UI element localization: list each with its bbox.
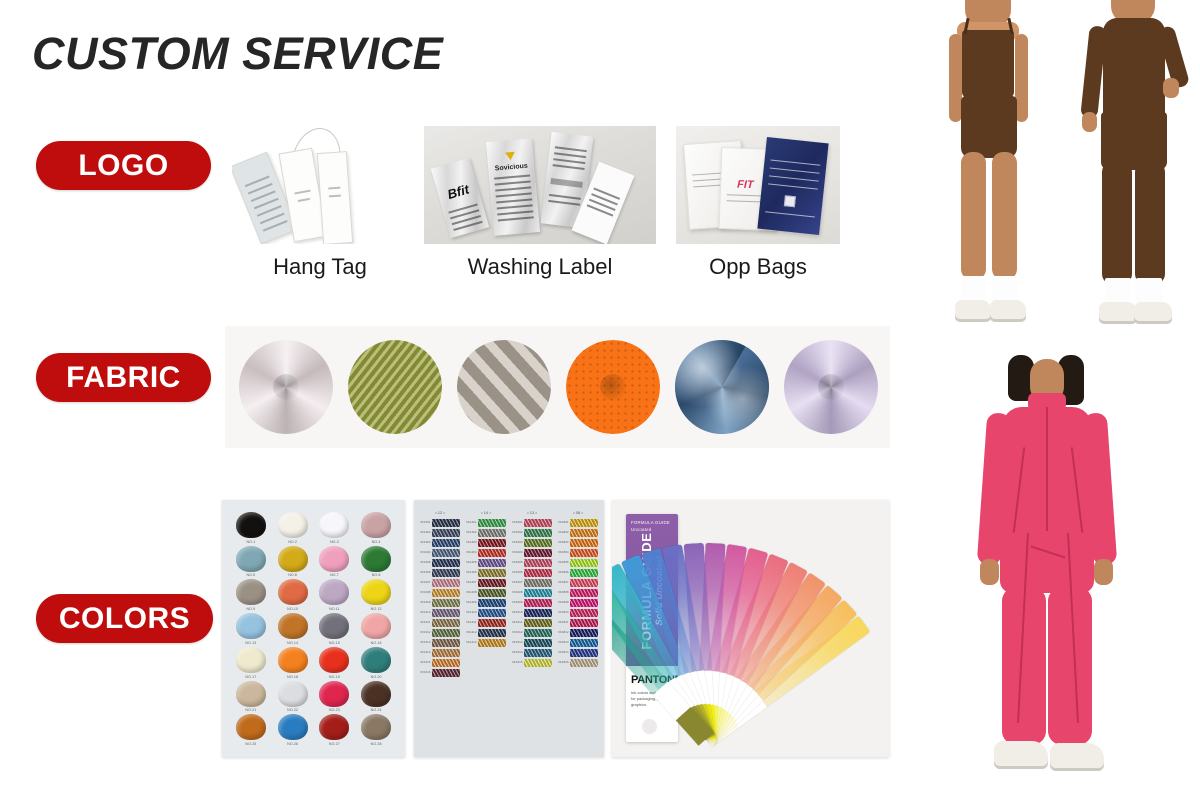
- color-chip-label: NO.23: [329, 708, 340, 712]
- color-chip-label: NO.26: [287, 742, 298, 746]
- thread-yarn-row: VF1412: [466, 628, 506, 637]
- thread-yarn-sample: [432, 539, 460, 547]
- thread-strip-header: • 12 •: [420, 510, 460, 515]
- thread-yarn-sample: [524, 539, 552, 547]
- color-chip: [278, 714, 308, 740]
- color-chip-label: NO.17: [245, 675, 256, 679]
- section-badge-colors: COLORS: [36, 594, 213, 643]
- color-chip-cell: NO.16: [357, 613, 395, 644]
- thread-yarn-sample: [570, 599, 598, 607]
- thread-yarn-sample: [432, 649, 460, 657]
- thread-yarn-sample: [524, 569, 552, 577]
- thread-strip: • 13 •VF1601VF1602VF1603VF1604VF1605VF16…: [512, 510, 552, 667]
- thread-yarn-code: VF1413: [466, 641, 477, 644]
- thread-yarn-code: VF1412: [466, 631, 477, 634]
- color-chip-label: NO.28: [371, 742, 382, 746]
- color-chip: [236, 681, 266, 707]
- thread-yarn-sample: [524, 579, 552, 587]
- thread-yarn-code: VF1811: [558, 621, 569, 624]
- custom-service-poster: CUSTOM SERVICE LOGO: [0, 0, 1200, 800]
- thread-yarn-row: VF1806: [558, 568, 598, 577]
- thread-yarn-code: VF1312: [420, 631, 431, 634]
- color-chip-cell: NO.6: [274, 546, 312, 577]
- thread-yarn-row: VF1401: [466, 518, 506, 527]
- thread-yarn-sample: [570, 539, 598, 547]
- thread-yarn-sample: [570, 569, 598, 577]
- color-chip-label: NO.10: [287, 607, 298, 611]
- fabric-swatch-taupe-ribbed: [457, 340, 551, 434]
- thread-yarn-row: VF1407: [466, 578, 506, 587]
- color-chip: [278, 579, 308, 605]
- thread-strip: • 12 •VF1301VF1302VF1303VF1304VF1305VF13…: [420, 510, 460, 677]
- thread-yarn-sample: [432, 579, 460, 587]
- thread-yarn-row: VF1402: [466, 528, 506, 537]
- thread-yarn-sample: [432, 569, 460, 577]
- thread-yarn-sample: [432, 609, 460, 617]
- thread-yarn-sample: [524, 659, 552, 667]
- thread-yarn-sample: [524, 529, 552, 537]
- logo-item-opp-bags: FIT Opp Bags: [676, 126, 840, 244]
- washing-label-bfit: Bfit: [431, 158, 489, 238]
- thread-yarn-sample: [478, 639, 506, 647]
- thread-yarn-row: VF1301: [420, 518, 460, 527]
- thread-yarn-row: VF1807: [558, 578, 598, 587]
- color-chip-cell: NO.5: [232, 546, 270, 577]
- section-badge-fabric: FABRIC: [36, 353, 211, 402]
- thread-yarn-sample: [570, 589, 598, 597]
- thread-color-card: • 12 •VF1301VF1302VF1303VF1304VF1305VF13…: [414, 500, 604, 757]
- thread-yarn-code: VF1604: [512, 551, 523, 554]
- thread-yarn-sample: [478, 519, 506, 527]
- thread-yarn-code: VF1611: [512, 621, 523, 624]
- color-chip: [236, 546, 266, 572]
- thread-yarn-sample: [478, 609, 506, 617]
- color-chip-label: NO.3: [330, 540, 339, 544]
- color-chip-cell: NO.12: [357, 579, 395, 610]
- thread-yarn-sample: [432, 519, 460, 527]
- thread-yarn-code: VF1612: [512, 631, 523, 634]
- color-chip: [361, 512, 391, 538]
- color-chip-cell: NO.15: [316, 613, 354, 644]
- washing-label-sovicious: Sovicious: [486, 138, 540, 236]
- thread-yarn-row: VF1304: [420, 548, 460, 557]
- thread-yarn-sample: [478, 549, 506, 557]
- thread-yarn-row: VF1607: [512, 578, 552, 587]
- thread-yarn-sample: [570, 519, 598, 527]
- color-chip-cell: NO.26: [274, 714, 312, 745]
- color-chip: [361, 613, 391, 639]
- thread-yarn-sample: [478, 589, 506, 597]
- thread-yarn-code: VF1607: [512, 581, 523, 584]
- color-chip: [278, 681, 308, 707]
- color-chip-cell: NO.22: [274, 681, 312, 712]
- color-chip: [361, 579, 391, 605]
- color-chip: [361, 647, 391, 673]
- thread-yarn-sample: [570, 629, 598, 637]
- thread-yarn-row: VF1610: [512, 608, 552, 617]
- thread-yarn-sample: [478, 629, 506, 637]
- thread-yarn-sample: [570, 529, 598, 537]
- color-chip-cell: NO.10: [274, 579, 312, 610]
- thread-yarn-code: VF1802: [558, 531, 569, 534]
- washing-label-photo: Bfit Sovicious: [424, 126, 656, 244]
- thread-yarn-row: VF1804: [558, 548, 598, 557]
- color-chip-label: NO.5: [246, 573, 255, 577]
- thread-yarn-sample: [570, 549, 598, 557]
- color-chip: [278, 512, 308, 538]
- thread-yarn-sample: [478, 599, 506, 607]
- thread-yarn-sample: [524, 609, 552, 617]
- color-chip-label: NO.19: [329, 675, 340, 679]
- color-chip: [236, 647, 266, 673]
- thread-yarn-code: VF1801: [558, 521, 569, 524]
- thread-yarn-sample: [478, 539, 506, 547]
- section-badge-logo: LOGO: [36, 141, 211, 190]
- color-chip: [319, 613, 349, 639]
- thread-yarn-sample: [524, 559, 552, 567]
- thread-yarn-row: VF1809: [558, 598, 598, 607]
- logo-item-hang-tag: Hang Tag: [232, 126, 408, 244]
- thread-strip-header: • 14 •: [466, 510, 506, 515]
- thread-yarn-sample: [570, 649, 598, 657]
- thread-yarn-code: VF1813: [558, 641, 569, 644]
- thread-yarn-code: VF1812: [558, 631, 569, 634]
- thread-yarn-row: VF1805: [558, 558, 598, 567]
- pantone-cover-top-text: FORMULA GUIDE Uncoated: [631, 520, 670, 533]
- thread-yarn-code: VF1313: [420, 641, 431, 644]
- thread-yarn-row: VF1302: [420, 528, 460, 537]
- thread-yarn-row: VF1314: [420, 648, 460, 657]
- thread-yarn-row: VF1813: [558, 638, 598, 647]
- thread-yarn-code: VF1314: [420, 651, 431, 654]
- thread-yarn-code: VF1409: [466, 601, 477, 604]
- color-chip-cell: NO.11: [316, 579, 354, 610]
- thread-yarn-row: VF1611: [512, 618, 552, 627]
- thread-yarn-code: VF1315: [420, 661, 431, 664]
- opp-bags-photo: FIT: [676, 126, 840, 244]
- thread-yarn-code: VF1401: [466, 521, 477, 524]
- thread-yarn-code: VF1806: [558, 571, 569, 574]
- pantone-fan-deck-card: FORMULA GUIDE Uncoated FORMULA GUIDE Sol…: [612, 500, 889, 757]
- color-chip-cell: NO.8: [357, 546, 395, 577]
- thread-yarn-sample: [570, 619, 598, 627]
- thread-yarn-row: VF1811: [558, 618, 598, 627]
- color-chip-label: NO.18: [287, 675, 298, 679]
- thread-yarn-row: VF1409: [466, 598, 506, 607]
- thread-yarn-row: VF1305: [420, 558, 460, 567]
- color-chip-label: NO.16: [371, 641, 382, 645]
- fabric-swatch-blue-tie-dye: [675, 340, 769, 434]
- thread-yarn-code: VF1408: [466, 591, 477, 594]
- color-chip: [319, 579, 349, 605]
- fabric-swatch-olive-ribbed-knit: [348, 340, 442, 434]
- thread-yarn-row: VF1810: [558, 608, 598, 617]
- thread-yarn-sample: [524, 629, 552, 637]
- thread-yarn-row: VF1316: [420, 668, 460, 677]
- color-chip-cell: NO.13: [232, 613, 270, 644]
- thread-yarn-code: VF1316: [420, 671, 431, 674]
- thread-yarn-row: VF1408: [466, 588, 506, 597]
- thread-yarn-sample: [432, 549, 460, 557]
- color-chip-card: NO.1NO.2NO.3NO.4NO.5NO.6NO.7NO.8NO.9NO.1…: [222, 500, 405, 757]
- color-chip-label: NO.6: [288, 573, 297, 577]
- thread-yarn-row: VF1603: [512, 538, 552, 547]
- color-chip: [278, 613, 308, 639]
- hang-tag-photo: [232, 126, 408, 244]
- thread-yarn-row: VF1406: [466, 568, 506, 577]
- color-chip-label: NO.15: [329, 641, 340, 645]
- thread-yarn-sample: [570, 639, 598, 647]
- thread-yarn-code: VF1605: [512, 561, 523, 564]
- color-chip-cell: NO.17: [232, 647, 270, 678]
- color-chip-cell: NO.7: [316, 546, 354, 577]
- model-photo-brown-sets: [905, 0, 1200, 352]
- color-chip-cell: NO.4: [357, 512, 395, 543]
- color-chip-label: NO.25: [245, 742, 256, 746]
- hang-tag-caption: Hang Tag: [232, 254, 408, 280]
- thread-yarn-sample: [432, 559, 460, 567]
- color-chip-label: NO.24: [371, 708, 382, 712]
- color-chip-cell: NO.23: [316, 681, 354, 712]
- thread-yarn-row: VF1306: [420, 568, 460, 577]
- color-chip: [278, 647, 308, 673]
- thread-yarn-sample: [478, 529, 506, 537]
- thread-yarn-sample: [432, 529, 460, 537]
- color-chip-cell: NO.9: [232, 579, 270, 610]
- thread-yarn-row: VF1404: [466, 548, 506, 557]
- color-chip-label: NO.7: [330, 573, 339, 577]
- thread-yarn-row: VF1601: [512, 518, 552, 527]
- thread-yarn-row: VF1405: [466, 558, 506, 567]
- thread-strip-header: • 08 •: [558, 510, 598, 515]
- thread-yarn-code: VF1303: [420, 541, 431, 544]
- color-chip-cell: NO.20: [357, 647, 395, 678]
- fabric-swatch-pale-pink-knit: [239, 340, 333, 434]
- thread-yarn-sample: [432, 629, 460, 637]
- thread-yarn-row: VF1413: [466, 638, 506, 647]
- thread-yarn-code: VF1307: [420, 581, 431, 584]
- thread-yarn-row: VF1602: [512, 528, 552, 537]
- thread-yarn-row: VF1615: [512, 658, 552, 667]
- thread-yarn-sample: [524, 519, 552, 527]
- thread-yarn-sample: [570, 559, 598, 567]
- thread-yarn-row: VF1802: [558, 528, 598, 537]
- thread-yarn-code: VF1606: [512, 571, 523, 574]
- thread-yarn-code: VF1407: [466, 581, 477, 584]
- color-chip-label: NO.11: [329, 607, 340, 611]
- color-chip-label: NO.27: [329, 742, 340, 746]
- thread-yarn-row: VF1808: [558, 588, 598, 597]
- color-chip-cell: NO.24: [357, 681, 395, 712]
- thread-yarn-code: VF1609: [512, 601, 523, 604]
- thread-yarn-code: VF1406: [466, 571, 477, 574]
- thread-yarn-code: VF1301: [420, 521, 431, 524]
- thread-yarn-row: VF1606: [512, 568, 552, 577]
- thread-yarn-code: VF1404: [466, 551, 477, 554]
- thread-yarn-sample: [432, 599, 460, 607]
- thread-yarn-row: VF1307: [420, 578, 460, 587]
- color-chip-label: NO.1: [246, 540, 255, 544]
- color-chip: [361, 546, 391, 572]
- thread-yarn-row: VF1803: [558, 538, 598, 547]
- thread-yarn-code: VF1305: [420, 561, 431, 564]
- thread-yarn-code: VF1608: [512, 591, 523, 594]
- color-chip-cell: NO.21: [232, 681, 270, 712]
- thread-yarn-code: VF1405: [466, 561, 477, 564]
- color-chip-cell: NO.19: [316, 647, 354, 678]
- fabric-swatch-orange-mesh: [566, 340, 660, 434]
- color-chip: [236, 714, 266, 740]
- thread-yarn-sample: [524, 599, 552, 607]
- thread-yarn-row: VF1309: [420, 598, 460, 607]
- color-chip-cell: NO.27: [316, 714, 354, 745]
- thread-yarn-code: VF1602: [512, 531, 523, 534]
- page-title: CUSTOM SERVICE: [32, 28, 443, 80]
- thread-yarn-code: VF1810: [558, 611, 569, 614]
- color-chip-label: NO.20: [371, 675, 382, 679]
- thread-yarn-code: VF1804: [558, 551, 569, 554]
- thread-yarn-row: VF1612: [512, 628, 552, 637]
- thread-yarn-sample: [524, 639, 552, 647]
- thread-yarn-code: VF1815: [558, 661, 569, 664]
- fabric-swatch-lavender-jersey: [784, 340, 878, 434]
- thread-yarn-sample: [478, 559, 506, 567]
- thread-yarn-row: VF1410: [466, 608, 506, 617]
- thread-yarn-row: VF1310: [420, 608, 460, 617]
- washing-label-caption: Washing Label: [424, 254, 656, 280]
- thread-yarn-row: VF1403: [466, 538, 506, 547]
- thread-yarn-code: VF1411: [466, 621, 477, 624]
- thread-yarn-row: VF1608: [512, 588, 552, 597]
- opp-bag-navy: [757, 137, 828, 235]
- thread-yarn-code: VF1306: [420, 571, 431, 574]
- thread-yarn-code: VF1310: [420, 611, 431, 614]
- thread-yarn-sample: [570, 579, 598, 587]
- thread-yarn-code: VF1814: [558, 651, 569, 654]
- color-chip-label: NO.9: [246, 607, 255, 611]
- color-chip: [319, 512, 349, 538]
- thread-yarn-code: VF1808: [558, 591, 569, 594]
- thread-strip: • 08 •VF1801VF1802VF1803VF1804VF1805VF18…: [558, 510, 598, 667]
- color-chip-label: NO.4: [372, 540, 381, 544]
- color-chip-cell: NO.1: [232, 512, 270, 543]
- thread-yarn-row: VF1311: [420, 618, 460, 627]
- logo-item-washing-label: Bfit Sovicious: [424, 126, 656, 244]
- color-chip: [319, 681, 349, 707]
- color-chip: [319, 546, 349, 572]
- thread-yarn-row: VF1814: [558, 648, 598, 657]
- fabric-swatch-panel: [225, 326, 890, 448]
- color-chip: [361, 714, 391, 740]
- thread-yarn-code: VF1610: [512, 611, 523, 614]
- thread-yarn-row: VF1605: [512, 558, 552, 567]
- thread-yarn-sample: [524, 619, 552, 627]
- color-chip: [278, 546, 308, 572]
- color-chip-label: NO.12: [371, 607, 382, 611]
- thread-strip-header: • 13 •: [512, 510, 552, 515]
- thread-yarn-code: VF1402: [466, 531, 477, 534]
- thread-yarn-code: VF1410: [466, 611, 477, 614]
- thread-yarn-code: VF1304: [420, 551, 431, 554]
- thread-yarn-row: VF1613: [512, 638, 552, 647]
- color-chip-label: NO.21: [245, 708, 256, 712]
- thread-yarn-row: VF1815: [558, 658, 598, 667]
- thread-yarn-code: VF1803: [558, 541, 569, 544]
- thread-yarn-sample: [478, 619, 506, 627]
- color-chip-cell: NO.14: [274, 613, 312, 644]
- pantone-cover-hole: [642, 719, 657, 734]
- color-chip: [319, 714, 349, 740]
- color-chip-cell: NO.3: [316, 512, 354, 543]
- thread-yarn-sample: [432, 669, 460, 677]
- thread-strip: • 14 •VF1401VF1402VF1403VF1404VF1405VF14…: [466, 510, 506, 647]
- color-chip-cell: NO.25: [232, 714, 270, 745]
- color-chip-label: NO.2: [288, 540, 297, 544]
- thread-yarn-row: VF1609: [512, 598, 552, 607]
- thread-yarn-sample: [432, 589, 460, 597]
- thread-yarn-code: VF1807: [558, 581, 569, 584]
- color-chip-cell: NO.2: [274, 512, 312, 543]
- thread-yarn-code: VF1311: [420, 621, 431, 624]
- thread-yarn-sample: [432, 619, 460, 627]
- thread-yarn-sample: [524, 649, 552, 657]
- color-chip: [319, 647, 349, 673]
- color-chip: [361, 681, 391, 707]
- color-chip-label: NO.14: [287, 641, 298, 645]
- thread-yarn-code: VF1302: [420, 531, 431, 534]
- thread-yarn-code: VF1805: [558, 561, 569, 564]
- color-chip-label: NO.8: [372, 573, 381, 577]
- thread-yarn-sample: [570, 609, 598, 617]
- hang-tag-card-narrow: [317, 151, 353, 244]
- thread-yarn-row: VF1604: [512, 548, 552, 557]
- thread-yarn-code: VF1603: [512, 541, 523, 544]
- color-chip-label: NO.22: [287, 708, 298, 712]
- thread-yarn-sample: [478, 579, 506, 587]
- color-chip: [236, 512, 266, 538]
- thread-yarn-row: VF1308: [420, 588, 460, 597]
- thread-yarn-row: VF1313: [420, 638, 460, 647]
- thread-yarn-sample: [524, 549, 552, 557]
- thread-yarn-code: VF1308: [420, 591, 431, 594]
- thread-yarn-row: VF1303: [420, 538, 460, 547]
- thread-yarn-code: VF1615: [512, 661, 523, 664]
- thread-yarn-code: VF1809: [558, 601, 569, 604]
- thread-yarn-row: VF1315: [420, 658, 460, 667]
- color-chip: [236, 613, 266, 639]
- opp-bags-caption: Opp Bags: [676, 254, 840, 280]
- thread-yarn-sample: [432, 659, 460, 667]
- thread-yarn-row: VF1812: [558, 628, 598, 637]
- thread-yarn-sample: [570, 659, 598, 667]
- logo-items-row: Hang Tag Bfit Sovicious: [232, 126, 912, 296]
- thread-yarn-code: VF1614: [512, 651, 523, 654]
- color-chip: [236, 579, 266, 605]
- color-chip-cell: NO.18: [274, 647, 312, 678]
- color-chip-cell: NO.28: [357, 714, 395, 745]
- thread-yarn-sample: [478, 569, 506, 577]
- thread-yarn-row: VF1801: [558, 518, 598, 527]
- thread-yarn-code: VF1309: [420, 601, 431, 604]
- thread-yarn-code: VF1601: [512, 521, 523, 524]
- color-chip-label: NO.13: [245, 641, 256, 645]
- thread-yarn-row: VF1312: [420, 628, 460, 637]
- model-photo-pink-jumpsuit: [930, 355, 1200, 800]
- thread-yarn-code: VF1613: [512, 641, 523, 644]
- thread-yarn-row: VF1411: [466, 618, 506, 627]
- thread-yarn-row: VF1614: [512, 648, 552, 657]
- thread-yarn-sample: [432, 639, 460, 647]
